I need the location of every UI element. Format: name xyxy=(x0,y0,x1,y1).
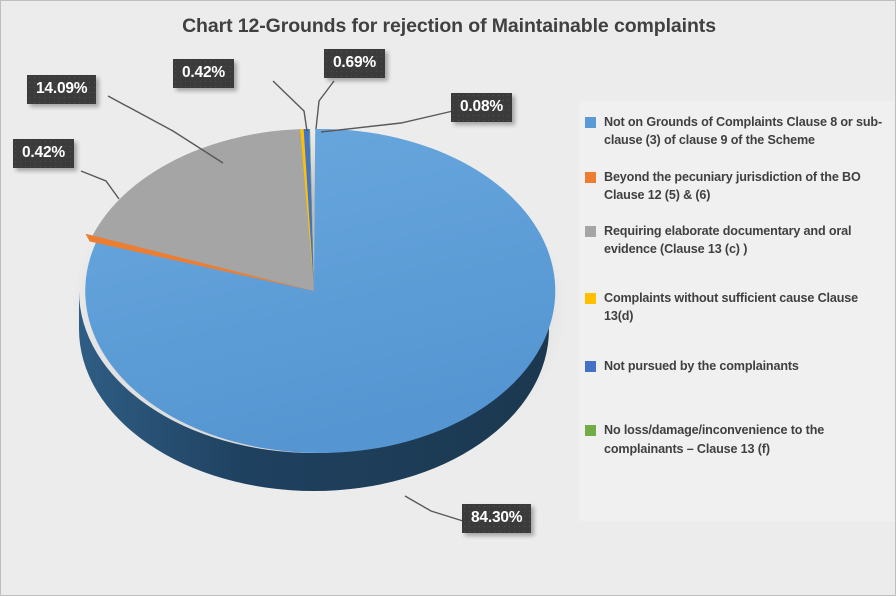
legend-item-beyond-pecuniary[interactable]: Beyond the pecuniary jurisdiction of the… xyxy=(585,168,890,205)
legend-label: Not on Grounds of Complaints Clause 8 or… xyxy=(604,113,890,150)
data-label-blue: 84.30% xyxy=(462,504,531,533)
data-label-green: 0.08% xyxy=(451,93,512,122)
legend-list: Not on Grounds of Complaints Clause 8 or… xyxy=(585,113,890,476)
chart-container: Chart 12-Grounds for rejection of Mainta… xyxy=(0,0,896,596)
legend-label: Beyond the pecuniary jurisdiction of the… xyxy=(604,168,890,205)
legend-swatch-icon-darkblue xyxy=(585,361,596,372)
legend-label: Requiring elaborate documentary and oral… xyxy=(604,222,890,259)
chart-title: Chart 12-Grounds for rejection of Mainta… xyxy=(1,15,896,38)
data-label-orange: 0.42% xyxy=(13,139,74,168)
chart-legend: Not on Grounds of Complaints Clause 8 or… xyxy=(579,101,894,521)
legend-item-no-loss-damage[interactable]: No loss/damage/inconvenience to the comp… xyxy=(585,421,890,458)
legend-swatch-icon-orange xyxy=(585,172,596,183)
legend-swatch-icon-gray xyxy=(585,226,596,237)
legend-label: Complaints without sufficient cause Clau… xyxy=(604,289,890,326)
legend-item-not-pursued[interactable]: Not pursued by the complainants xyxy=(585,357,890,375)
legend-label: No loss/damage/inconvenience to the comp… xyxy=(604,421,890,458)
legend-item-without-sufficient-cause[interactable]: Complaints without sufficient cause Clau… xyxy=(585,289,890,326)
legend-swatch-icon-green xyxy=(585,425,596,436)
legend-item-not-on-grounds[interactable]: Not on Grounds of Complaints Clause 8 or… xyxy=(585,113,890,150)
legend-swatch-icon-blue xyxy=(585,117,596,128)
data-label-gray: 14.09% xyxy=(27,75,96,104)
data-label-darkblue: 0.69% xyxy=(324,49,385,78)
data-label-yellow: 0.42% xyxy=(173,59,234,88)
legend-item-requiring-evidence[interactable]: Requiring elaborate documentary and oral… xyxy=(585,222,890,259)
legend-label: Not pursued by the complainants xyxy=(604,357,799,375)
legend-swatch-icon-yellow xyxy=(585,293,596,304)
